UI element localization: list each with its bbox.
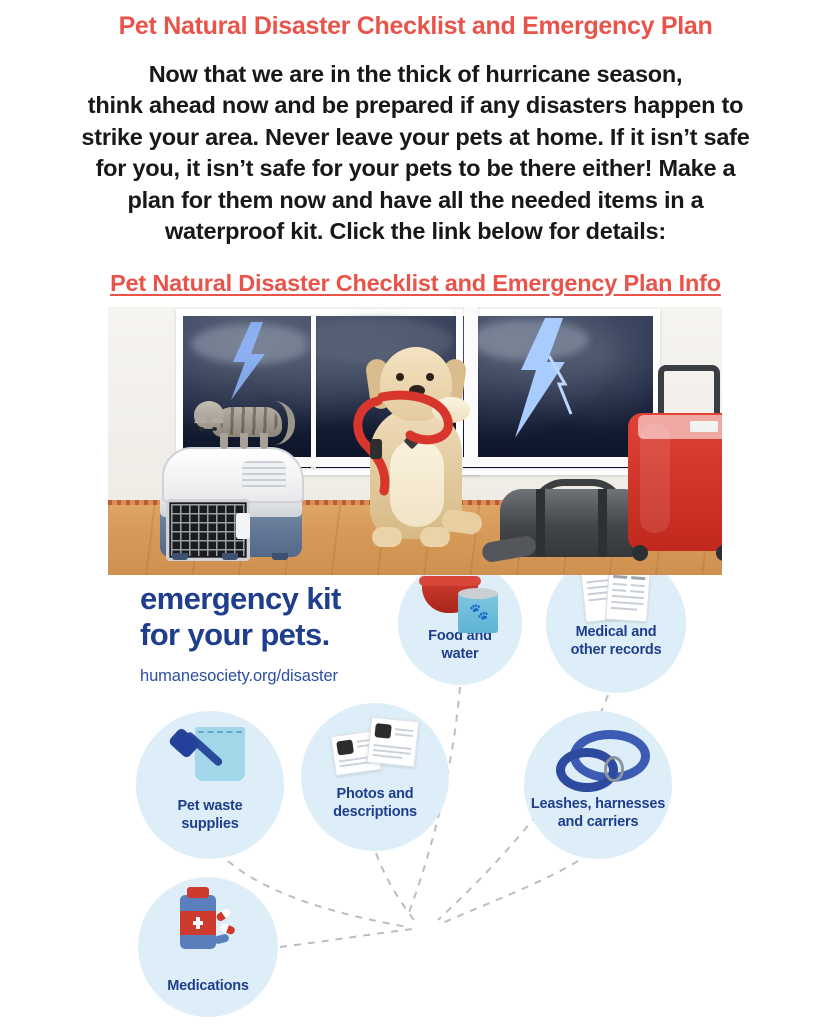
body-line-4: for you, it isn’t safe for your pets to … <box>36 153 795 184</box>
body-line-5: plan for them now and have all the neede… <box>36 185 795 216</box>
page-root: Pet Natural Disaster Checklist and Emerg… <box>0 0 831 1024</box>
kit-item-caption: Photos and descriptions <box>333 786 417 821</box>
documents-icon <box>546 575 686 629</box>
food-bowl-and-can-icon: 🐾 <box>398 575 522 637</box>
window-mullion <box>311 316 316 468</box>
checklist-info-link[interactable]: Pet Natural Disaster Checklist and Emerg… <box>110 270 721 296</box>
kit-item-photos-and-descriptions[interactable]: Photos and descriptions <box>301 703 449 851</box>
pet-crate <box>158 447 303 559</box>
article-body: Now that we are in the thick of hurrican… <box>0 41 831 248</box>
kit-item-caption: Pet waste supplies <box>177 798 242 833</box>
body-line-2: think ahead now and be prepared if any d… <box>36 90 795 121</box>
body-line-3: strike your area. Never leave your pets … <box>36 122 795 153</box>
page-title: Pet Natural Disaster Checklist and Emerg… <box>0 0 831 41</box>
golden-retriever <box>346 335 486 563</box>
pets-evacuation-photo <box>108 307 722 575</box>
red-suitcase <box>628 365 722 565</box>
body-line-1: Now that we are in the thick of hurrican… <box>36 59 795 90</box>
duffel-bag <box>500 479 642 563</box>
kit-item-caption: Medical and other records <box>571 624 662 659</box>
kit-item-leashes-harnesses-carriers[interactable]: Leashes, harnesses and carriers <box>524 711 672 859</box>
body-line-6: waterproof kit. Click the link below for… <box>36 216 795 247</box>
scoop-and-bag-icon <box>136 725 284 787</box>
kit-item-caption: Medications <box>167 978 249 995</box>
emergency-kit-figure: emergency kit for your pets. humanesocie… <box>108 307 722 1024</box>
kit-item-medications[interactable]: Medications <box>138 877 278 1017</box>
article-link-wrap: Pet Natural Disaster Checklist and Emerg… <box>0 248 831 297</box>
medicine-bottle-icon <box>138 891 278 953</box>
leash-icon <box>524 725 672 787</box>
red-leash <box>348 387 460 497</box>
emergency-kit-infographic: emergency kit for your pets. humanesocie… <box>108 575 722 1024</box>
photo-cards-icon <box>301 717 449 779</box>
kit-item-caption: Leashes, harnesses and carriers <box>531 796 665 831</box>
tabby-cat <box>194 385 292 453</box>
kit-item-pet-waste-supplies[interactable]: Pet waste supplies <box>136 711 284 859</box>
